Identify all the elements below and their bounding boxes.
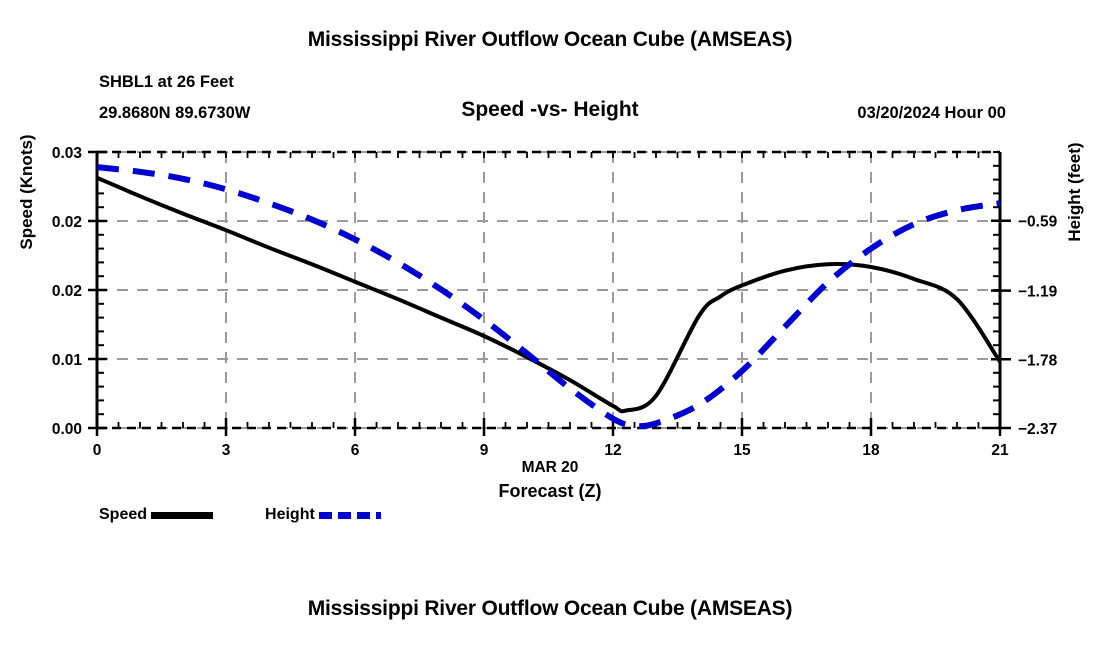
axis-tick-labels: 0.000.010.020.020.03−2.37−1.78−1.19−0.59… — [52, 145, 1058, 459]
y-tick-label-left: 0.02 — [52, 214, 82, 231]
page-footer-title: Mississippi River Outflow Ocean Cube (AM… — [0, 597, 1100, 621]
x-tick-label: 21 — [991, 442, 1009, 459]
x-tick-label: 15 — [733, 442, 751, 459]
gridlines — [97, 152, 1000, 428]
x-tick-label: 3 — [222, 442, 231, 459]
y-tick-label-left: 0.01 — [52, 352, 83, 369]
legend-label-height: Height — [265, 506, 315, 524]
chart-legend: Speed Height — [99, 506, 381, 524]
x-tick-label: 18 — [862, 442, 880, 459]
y-tick-label-left: 0.02 — [52, 283, 82, 300]
legend-item-speed[interactable]: Speed — [99, 506, 213, 524]
data-series-layer — [97, 167, 1000, 426]
y-tick-label-left: 0.00 — [52, 421, 82, 438]
y-tick-label-right: −2.37 — [1018, 421, 1057, 438]
legend-swatch-speed-line — [151, 512, 213, 519]
x-tick-label: 9 — [480, 442, 489, 459]
legend-label-speed: Speed — [99, 506, 147, 524]
y-tick-label-left: 0.03 — [52, 145, 83, 162]
x-tick-label: 0 — [93, 442, 102, 459]
y-tick-label-right: −1.19 — [1018, 284, 1058, 301]
y-tick-label-right: −0.59 — [1018, 214, 1058, 231]
x-tick-label: 6 — [351, 442, 360, 459]
legend-item-height[interactable]: Height — [265, 506, 381, 524]
x-tick-label: 12 — [604, 442, 621, 459]
legend-swatch-height-line — [319, 512, 381, 519]
series-line-height — [97, 167, 1000, 426]
y-tick-label-right: −1.78 — [1018, 352, 1058, 369]
series-line-speed — [97, 178, 1000, 411]
chart-plot-area: 0.000.010.020.020.03−2.37−1.78−1.19−0.59… — [0, 0, 1100, 650]
